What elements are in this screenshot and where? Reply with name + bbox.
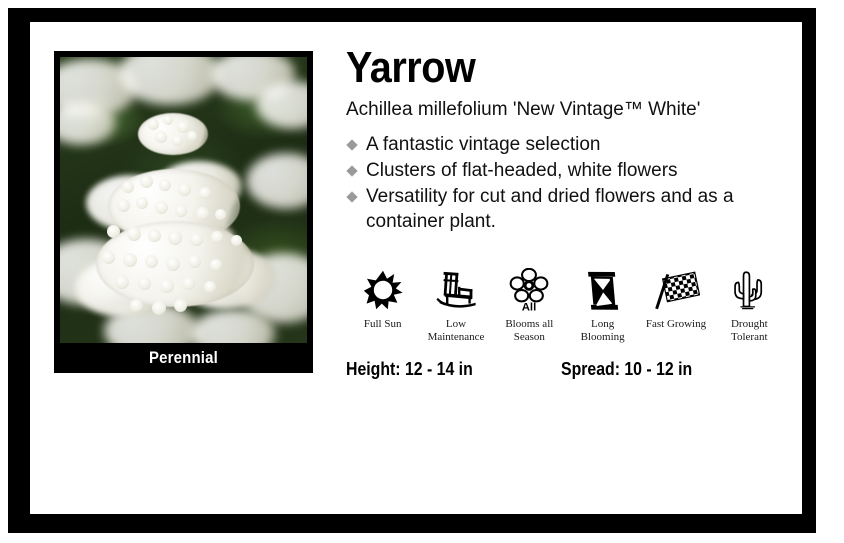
- floret: [174, 299, 187, 312]
- floret: [166, 257, 180, 271]
- attribute-full-sun: Full Sun: [346, 267, 419, 331]
- feature-text: A fantastic vintage selection: [366, 134, 600, 155]
- floret: [140, 175, 153, 188]
- floret: [210, 259, 222, 271]
- plant-botanical-name: Achillea millefolium 'New Vintage™ White…: [346, 98, 776, 122]
- floret: [115, 275, 129, 289]
- list-item: A fantastic vintage selection: [346, 132, 776, 157]
- checkered-flag-icon: [639, 267, 712, 313]
- attribute-label: Low Maintenance: [419, 318, 492, 344]
- tag-outer-frame: Perennial Yarrow Achillea millefolium 'N…: [8, 8, 816, 533]
- floret: [117, 199, 130, 212]
- attribute-blooms-all-season: All Blooms all Season: [493, 267, 566, 344]
- floret: [199, 187, 211, 199]
- floret: [163, 115, 173, 125]
- floret: [152, 301, 166, 315]
- floret: [196, 207, 209, 220]
- floret: [127, 227, 141, 241]
- plant-common-name: Yarrow: [346, 44, 733, 92]
- feature-text: Clusters of flat-headed, white flowers: [366, 160, 678, 181]
- attribute-fast-growing: Fast Growing: [639, 267, 712, 331]
- diamond-bullet-icon: [346, 139, 357, 150]
- floret: [160, 279, 174, 293]
- diamond-bullet-icon: [346, 165, 357, 176]
- photo-caption-perennial: Perennial: [70, 343, 298, 373]
- flower-cluster-main: [138, 113, 208, 155]
- floret: [136, 197, 148, 209]
- svg-text:All: All: [522, 301, 537, 312]
- flower-all-season-icon: All: [493, 267, 566, 313]
- floret: [178, 183, 191, 196]
- tag-canvas: Perennial Yarrow Achillea millefolium 'N…: [30, 22, 802, 514]
- floret: [172, 135, 183, 146]
- attribute-label: Blooms all Season: [493, 318, 566, 344]
- floret: [187, 131, 197, 141]
- plant-info: Yarrow Achillea millefolium 'New Vintage…: [346, 44, 776, 235]
- attribute-low-maintenance: Low Maintenance: [419, 267, 492, 344]
- floret: [148, 119, 159, 130]
- attribute-label: Fast Growing: [639, 318, 712, 331]
- floret: [231, 235, 242, 246]
- floret: [130, 299, 143, 312]
- attribute-label: Full Sun: [346, 318, 419, 331]
- floret: [122, 181, 134, 193]
- floret: [138, 277, 151, 290]
- height-value: Height: 12 - 14 in: [346, 359, 473, 380]
- floret: [175, 205, 187, 217]
- floret: [155, 201, 168, 214]
- floret: [177, 121, 189, 133]
- floret: [155, 131, 167, 143]
- attribute-label: Long Blooming: [566, 318, 639, 344]
- floret: [188, 255, 201, 268]
- floret: [211, 231, 223, 243]
- list-item: Clusters of flat-headed, white flowers: [346, 158, 776, 183]
- rocking-chair-icon: [419, 267, 492, 313]
- plant-photo-block: Perennial: [54, 51, 313, 373]
- floret: [123, 253, 137, 267]
- attribute-icon-strip: Full Sun: [346, 267, 786, 344]
- attribute-label: Drought Tolerant: [713, 318, 786, 344]
- floret: [215, 209, 226, 220]
- feature-text: Versatility for cut and dried flowers an…: [366, 186, 734, 232]
- cactus-icon: [713, 267, 786, 313]
- feature-list: A fantastic vintage selection Clusters o…: [346, 132, 776, 234]
- attribute-drought-tolerant: Drought Tolerant: [713, 267, 786, 344]
- floret: [159, 179, 171, 191]
- full-sun-icon: [346, 267, 419, 313]
- floret: [148, 229, 161, 242]
- floret: [107, 225, 120, 238]
- floret: [190, 233, 203, 246]
- plant-photo: [60, 57, 307, 343]
- list-item: Versatility for cut and dried flowers an…: [346, 184, 776, 234]
- floret: [168, 231, 182, 245]
- floret: [102, 251, 115, 264]
- hourglass-icon: [566, 267, 639, 313]
- attribute-long-blooming: Long Blooming: [566, 267, 639, 344]
- floret: [204, 281, 216, 293]
- floret: [182, 277, 195, 290]
- floret: [145, 255, 158, 268]
- spread-value: Spread: 10 - 12 in: [561, 359, 692, 380]
- diamond-bullet-icon: [346, 191, 357, 202]
